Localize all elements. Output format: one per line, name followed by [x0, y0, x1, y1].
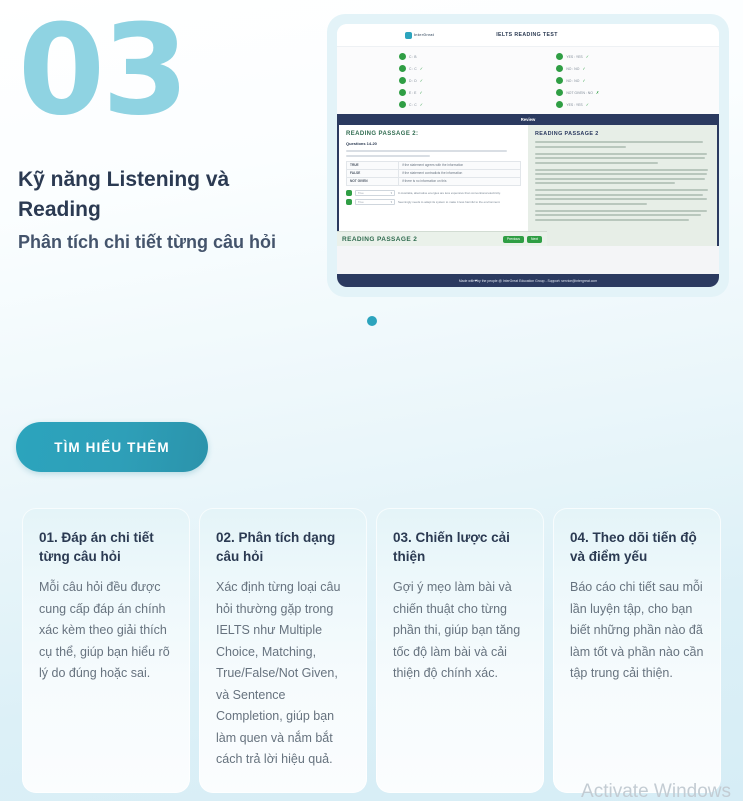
- answer-value: C : C: [409, 103, 417, 107]
- carousel-dots: [0, 316, 743, 326]
- feature-card-title: 01. Đáp án chi tiết từng câu hỏi: [39, 528, 173, 566]
- footer-text-prefix: Made with: [459, 279, 474, 283]
- feature-card-title: 03. Chiến lược cải thiện: [393, 528, 527, 566]
- feature-card-title: 04. Theo dõi tiến độ và điểm yếu: [570, 528, 704, 566]
- check-icon: ✓: [582, 78, 585, 83]
- answer-select-value: True: [358, 191, 364, 195]
- next-button[interactable]: Next: [527, 236, 542, 243]
- check-icon: ✓: [420, 102, 423, 107]
- feature-cards: 01. Đáp án chi tiết từng câu hỏi Mỗi câu…: [22, 508, 722, 793]
- chevron-down-icon: ▾: [391, 191, 392, 195]
- mock-answer-row: YES : YES ✓: [556, 52, 719, 62]
- text-line: [535, 203, 647, 205]
- questions-range-label: Questions 14-20: [346, 141, 521, 146]
- feature-card-4[interactable]: 04. Theo dõi tiến độ và điểm yếu Báo cáo…: [553, 508, 721, 793]
- text-line: [535, 214, 701, 216]
- tfng-key: TRUE: [347, 161, 399, 169]
- mock-questions-panel: READING PASSAGE 2: Questions 14-20 TRUE …: [339, 125, 528, 246]
- text-line: [346, 155, 430, 157]
- check-icon: ✓: [582, 66, 585, 71]
- text-line: [535, 194, 703, 196]
- answer-select[interactable]: True ▾: [355, 199, 395, 205]
- question-status-icon: [346, 199, 352, 205]
- feature-card-3[interactable]: 03. Chiến lược cải thiện Gợi ý mẹo làm b…: [376, 508, 544, 793]
- mock-footer-strip: [337, 246, 719, 274]
- footer-text-suffix: by the people @ InterGreat Education Gro…: [477, 279, 597, 283]
- feature-card-body: Báo cáo chi tiết sau mỗi lần luyện tập, …: [570, 577, 704, 685]
- text-line: [535, 210, 707, 212]
- mock-passage-footer-bar: READING PASSAGE 2 Previous Next: [337, 231, 547, 246]
- answer-value: YES : YES: [566, 55, 582, 59]
- feature-card-body: Xác định từng loại câu hỏi thường gặp tr…: [216, 577, 350, 771]
- tfng-value: if the statement agrees with the informa…: [399, 161, 521, 169]
- mock-answer-row: YES : YES ✓: [556, 100, 719, 110]
- feature-card-body: Gợi ý mẹo làm bài và chiến thuật cho từn…: [393, 577, 527, 685]
- answer-value: NO : NO: [566, 79, 579, 83]
- table-row: NOT GIVEN if there is no information on …: [347, 177, 521, 185]
- feature-card-1[interactable]: 01. Đáp án chi tiết từng câu hỏi Mỗi câu…: [22, 508, 190, 793]
- text-line: [535, 219, 689, 221]
- answer-value: NO : NO: [566, 67, 579, 71]
- mock-answer-row: D : D ✓: [399, 76, 520, 86]
- answer-status-icon: [399, 53, 406, 60]
- passage-panel-heading: READING PASSAGE 2: [535, 131, 710, 137]
- feature-card-2[interactable]: 02. Phân tích dạng câu hỏi Xác định từng…: [199, 508, 367, 793]
- answer-status-icon: [399, 101, 406, 108]
- answer-value: E : E: [409, 91, 416, 95]
- text-line: [535, 141, 703, 143]
- mock-answer-row: C : B: [399, 52, 520, 62]
- check-icon: ✓: [419, 90, 422, 95]
- text-line: [535, 182, 675, 184]
- answer-value: C : B: [409, 55, 417, 59]
- true-false-notgiven-table: TRUE if the statement agrees with the in…: [346, 161, 521, 186]
- questions-panel-heading: READING PASSAGE 2:: [346, 131, 521, 137]
- mock-review-bar: Review: [337, 114, 719, 125]
- hero-title: Kỹ năng Listening và Reading: [18, 165, 288, 226]
- text-line: [535, 173, 707, 175]
- answer-select[interactable]: True ▾: [355, 190, 395, 196]
- answer-status-icon: [556, 101, 563, 108]
- passage-nav-buttons: Previous Next: [503, 236, 542, 243]
- text-line: [535, 178, 705, 180]
- passage-footer-label: READING PASSAGE 2: [342, 236, 417, 243]
- answer-select-value: True: [358, 200, 364, 204]
- brand-logo-icon: [405, 32, 412, 39]
- text-line: [535, 157, 705, 159]
- mock-answer-row: NOT GIVEN : NO ✗: [556, 88, 719, 98]
- mock-logo-text: InterGreat: [414, 33, 434, 37]
- question-text: In Australia, alternative energies are l…: [398, 191, 501, 195]
- chevron-down-icon: ▾: [391, 200, 392, 204]
- carousel-dot-1[interactable]: [367, 316, 377, 326]
- check-icon: ✓: [586, 54, 589, 59]
- question-text: Seemingly needs to adapt its system to m…: [398, 200, 500, 204]
- answer-status-icon: [556, 77, 563, 84]
- mock-answer-row: E : E ✓: [399, 88, 520, 98]
- table-row: FALSE if the statement contradicts the i…: [347, 169, 521, 177]
- mock-footer-bar: Made with ❤ by the people @ InterGreat E…: [337, 274, 719, 287]
- check-icon: ✓: [420, 78, 423, 83]
- product-screenshot-frame: InterGreat IELTS READING TEST C : B C : …: [327, 14, 729, 297]
- feature-card-title: 02. Phân tích dạng câu hỏi: [216, 528, 350, 566]
- hero-subtitle: Phân tích chi tiết từng câu hỏi: [18, 229, 308, 257]
- mock-answer-row: NO : NO ✓: [556, 64, 719, 74]
- answer-status-icon: [556, 89, 563, 96]
- feature-card-body: Mỗi câu hỏi đều được cung cấp đáp án chí…: [39, 577, 173, 685]
- text-line: [535, 162, 658, 164]
- text-line: [535, 146, 626, 148]
- text-line: [535, 198, 707, 200]
- text-line: [535, 189, 708, 191]
- mock-answer-column-right: YES : YES ✓ NO : NO ✓ NO : NO ✓ NOT GIVE…: [520, 51, 719, 110]
- mock-topbar: InterGreat IELTS READING TEST: [337, 24, 719, 46]
- answer-value: YES : YES: [566, 103, 582, 107]
- review-label: Review: [521, 117, 535, 122]
- previous-button[interactable]: Previous: [503, 236, 524, 243]
- mock-answer-summary: C : B C : C ✓ D : D ✓ E : E ✓: [337, 46, 719, 114]
- answer-value: NOT GIVEN : NO: [566, 91, 593, 95]
- mock-logo: InterGreat: [405, 32, 434, 39]
- check-icon: ✓: [420, 66, 423, 71]
- check-icon: ✓: [586, 102, 589, 107]
- answer-status-icon: [399, 89, 406, 96]
- answer-status-icon: [399, 65, 406, 72]
- mock-panels: READING PASSAGE 2: Questions 14-20 TRUE …: [337, 125, 719, 246]
- mock-answer-row: C : C ✓: [399, 64, 520, 74]
- table-row: TRUE if the statement agrees with the in…: [347, 161, 521, 169]
- answer-value: D : D: [409, 79, 417, 83]
- learn-more-button[interactable]: TÌM HIỂU THÊM: [16, 422, 208, 472]
- answer-status-icon: [556, 65, 563, 72]
- tfng-key: FALSE: [347, 169, 399, 177]
- mock-answer-row: NO : NO ✓: [556, 76, 719, 86]
- hero-step-number: 03: [18, 8, 318, 133]
- question-row: True ▾ In Australia, alternative energie…: [346, 190, 521, 196]
- answer-value: C : C: [409, 67, 417, 71]
- question-row: True ▾ Seemingly needs to adapt its syst…: [346, 199, 521, 205]
- question-status-icon: [346, 190, 352, 196]
- check-icon: ✗: [596, 90, 599, 95]
- hero-section: 03 Kỹ năng Listening và Reading Phân tíc…: [18, 8, 318, 257]
- tfng-value: if there is no information on this: [399, 177, 521, 185]
- product-screenshot: InterGreat IELTS READING TEST C : B C : …: [337, 24, 719, 287]
- text-line: [346, 150, 507, 152]
- text-line: [535, 153, 707, 155]
- text-line: [535, 169, 708, 171]
- answer-status-icon: [399, 77, 406, 84]
- mock-answer-row: C : C ✓: [399, 100, 520, 110]
- tfng-key: NOT GIVEN: [347, 177, 399, 185]
- answer-status-icon: [556, 53, 563, 60]
- tfng-value: if the statement contradicts the informa…: [399, 169, 521, 177]
- mock-passage-panel: READING PASSAGE 2: [528, 125, 717, 246]
- mock-answer-column-left: C : B C : C ✓ D : D ✓ E : E ✓: [337, 51, 520, 110]
- mock-test-title: IELTS READING TEST: [496, 32, 558, 38]
